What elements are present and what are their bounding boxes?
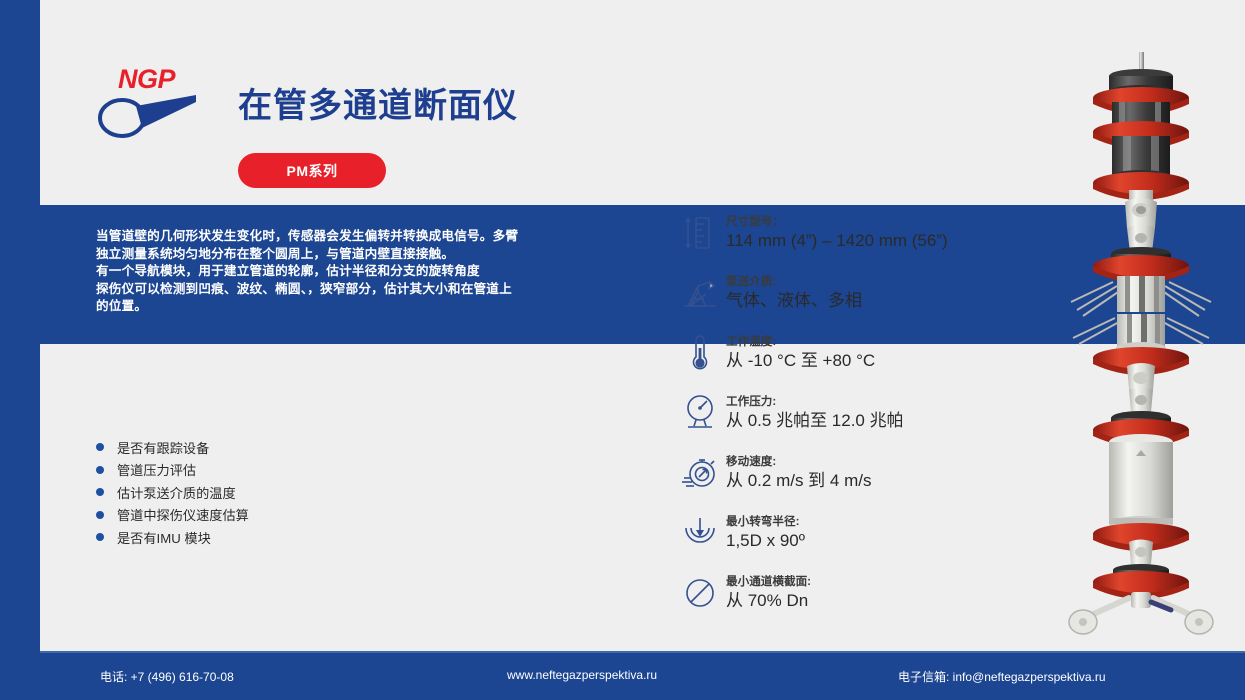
list-item: 估计泵送介质的温度 xyxy=(96,481,249,504)
spec-value: 从 70% Dn xyxy=(726,590,811,612)
series-badge: PM系列 xyxy=(238,153,386,188)
feature-list: 是否有跟踪设备 管道压力评估 估计泵送介质的温度 管道中探伤仪速度估算 是否有I… xyxy=(96,436,249,549)
pressure-gauge-icon xyxy=(678,392,726,438)
spec-value: 1,5D x 90º xyxy=(726,530,805,552)
ngp-logo: NGP xyxy=(96,66,202,140)
list-item: 是否有IMU 模块 xyxy=(96,526,249,549)
spec-label: 最小转弯半径: xyxy=(726,514,805,529)
spec-item-medium: 泵送介质: 气体、液体、多相 xyxy=(678,272,862,318)
footer-divider xyxy=(40,651,1245,653)
list-item: 管道压力评估 xyxy=(96,459,249,482)
spec-item-bend-radius: 最小转弯半径: 1,5D x 90º xyxy=(678,512,805,558)
list-item: 管道中探伤仪速度估算 xyxy=(96,504,249,527)
footer-bar: 电话: +7 (496) 616-70-08 www.neftegazpersp… xyxy=(0,651,1245,700)
feature-label: 管道中探伤仪速度估算 xyxy=(117,505,249,524)
ruler-icon xyxy=(678,212,726,258)
spec-value: 气体、液体、多相 xyxy=(726,290,862,312)
pipeline-inspection-tool-image xyxy=(1055,50,1230,635)
feature-label: 管道压力评估 xyxy=(117,460,196,479)
spec-item-pressure: 工作压力: 从 0.5 兆帕至 12.0 兆帕 xyxy=(678,392,904,438)
bullet-dot-icon xyxy=(96,488,104,496)
page-title: 在管多通道断面仪 xyxy=(238,78,518,127)
thermometer-icon xyxy=(678,332,726,378)
slide-root: NGP 在管多通道断面仪 PM系列 当管道壁的几何形状发生变化时，传感器会发生偏… xyxy=(0,0,1245,700)
spec-value: 114 mm (4”) – 1420 mm (56”) xyxy=(726,230,948,252)
bullet-dot-icon xyxy=(96,466,104,474)
spec-label: 最小通道横截面: xyxy=(726,574,811,589)
spec-item-cross-section: 最小通道横截面: 从 70% Dn xyxy=(678,572,811,618)
cross-section-icon xyxy=(678,572,726,618)
spec-item-temperature: 工作温度: 从 -10 °C 至 +80 °C xyxy=(678,332,875,378)
bullet-dot-icon xyxy=(96,511,104,519)
footer-phone: 电话: +7 (496) 616-70-08 xyxy=(100,668,234,685)
spec-value: 从 0.5 兆帕至 12.0 兆帕 xyxy=(726,410,904,432)
spec-value: 从 -10 °C 至 +80 °C xyxy=(726,350,875,372)
footer-email[interactable]: 电子信箱: info@neftegazperspektiva.ru xyxy=(898,668,1106,685)
spec-label: 工作压力: xyxy=(726,394,904,409)
spec-item-size: 尺寸型号： 114 mm (4”) – 1420 mm (56”) xyxy=(678,212,948,258)
bend-radius-icon xyxy=(678,512,726,558)
bullet-dot-icon xyxy=(96,533,104,541)
pumpjack-icon xyxy=(678,272,726,318)
spec-label: 泵送介质: xyxy=(726,274,862,289)
stopwatch-icon xyxy=(678,452,726,498)
spec-label: 移动速度: xyxy=(726,454,871,469)
feature-label: 是否有IMU 模块 xyxy=(117,528,211,547)
spec-label: 尺寸型号： xyxy=(726,214,948,229)
feature-label: 是否有跟踪设备 xyxy=(117,438,209,457)
bullet-dot-icon xyxy=(96,443,104,451)
spec-value: 从 0.2 m/s 到 4 m/s xyxy=(726,470,871,492)
footer-website[interactable]: www.neftegazperspektiva.ru xyxy=(507,668,657,682)
list-item: 是否有跟踪设备 xyxy=(96,436,249,459)
spec-item-speed: 移动速度: 从 0.2 m/s 到 4 m/s xyxy=(678,452,871,498)
pipe-cone-logo-icon xyxy=(96,92,202,140)
logo-wordmark: NGP xyxy=(118,64,175,95)
description-text: 当管道壁的几何形状发生变化时，传感器会发生偏转并转换成电信号。多臂 独立测量系统… xyxy=(96,228,606,316)
spec-label: 工作温度: xyxy=(726,334,875,349)
feature-label: 估计泵送介质的温度 xyxy=(117,483,236,502)
